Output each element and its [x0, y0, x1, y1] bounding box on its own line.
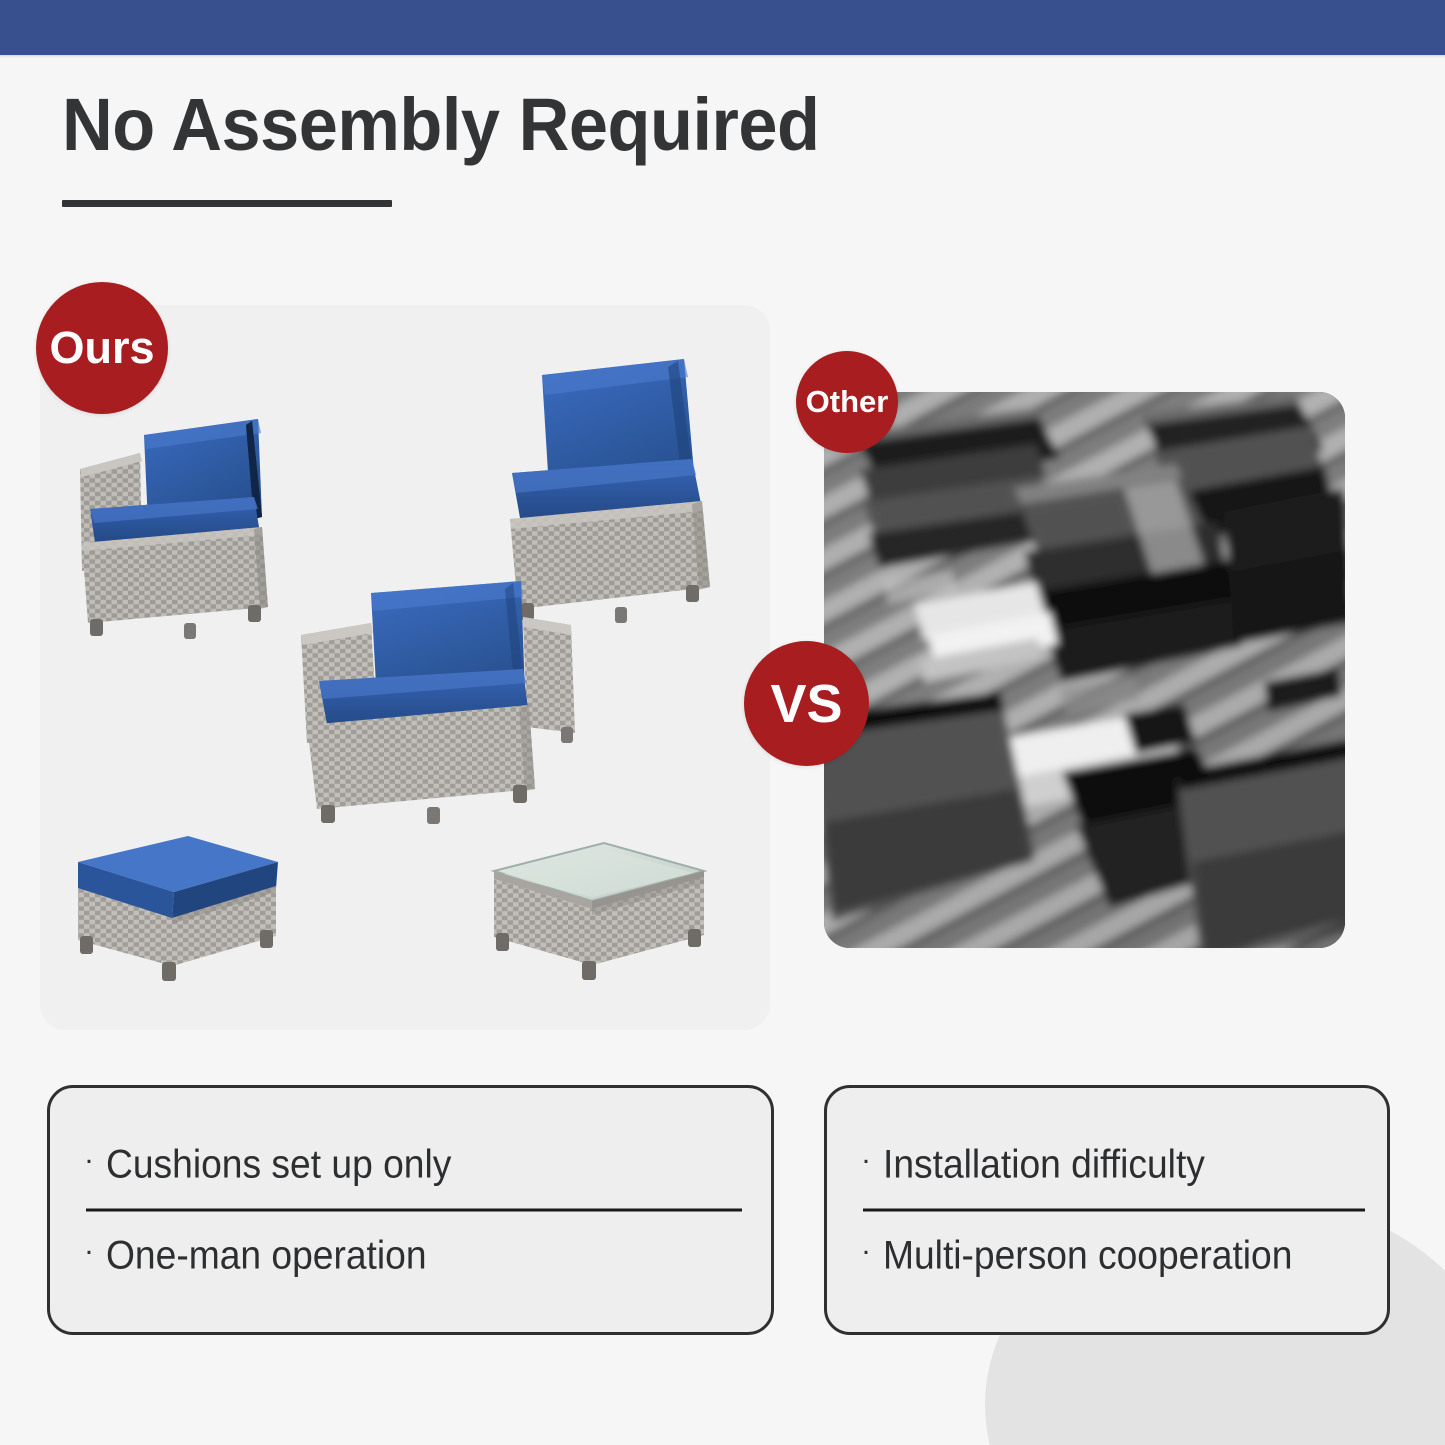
- bullet-dot-icon: ·: [861, 1146, 871, 1176]
- list-item: · Cushions set up only: [84, 1143, 737, 1187]
- ours-benefit-2: One-man operation: [106, 1234, 427, 1278]
- list-item: · Installation difficulty: [861, 1143, 1353, 1187]
- bullet-divider-right: [863, 1209, 1365, 1212]
- disassembled-parts-photo: [824, 392, 1345, 948]
- badge-ours-label: Ours: [49, 322, 154, 374]
- badge-vs-label: VS: [770, 673, 842, 735]
- bullet-dot-icon: ·: [861, 1237, 871, 1267]
- page-title: No Assembly Required: [62, 88, 819, 162]
- ours-benefit-1: Cushions set up only: [106, 1143, 451, 1187]
- ottoman-module: [62, 830, 302, 1000]
- badge-other-label: Other: [806, 384, 889, 420]
- bullet-dot-icon: ·: [84, 1237, 94, 1267]
- top-accent-bar: [0, 0, 1445, 55]
- list-item: · One-man operation: [84, 1234, 737, 1278]
- page-title-block: No Assembly Required: [62, 88, 859, 207]
- other-drawback-2: Multi-person cooperation: [883, 1234, 1292, 1278]
- badge-vs: VS: [744, 641, 869, 766]
- badge-ours: Ours: [36, 282, 168, 414]
- ours-benefits-list: · Cushions set up only · One-man operati…: [50, 1143, 771, 1278]
- bullet-dot-icon: ·: [84, 1146, 94, 1176]
- other-drawbacks-list: · Installation difficulty · Multi-person…: [827, 1143, 1387, 1278]
- other-drawbacks-box: · Installation difficulty · Multi-person…: [824, 1085, 1390, 1335]
- other-panel-photo: [824, 392, 1345, 948]
- glass-top-coffee-table: [480, 835, 720, 1005]
- badge-other: Other: [796, 351, 898, 453]
- other-drawback-1: Installation difficulty: [883, 1143, 1205, 1187]
- ours-panel: [40, 305, 770, 1030]
- ours-benefits-box: · Cushions set up only · One-man operati…: [47, 1085, 774, 1335]
- bullet-divider-left: [86, 1209, 742, 1212]
- infographic-page: No Assembly Required: [0, 0, 1445, 1445]
- top-bar-shadow: [0, 55, 1445, 58]
- title-underline-rule: [62, 200, 392, 207]
- list-item: · Multi-person cooperation: [861, 1234, 1353, 1278]
- armchair-module: [285, 577, 585, 837]
